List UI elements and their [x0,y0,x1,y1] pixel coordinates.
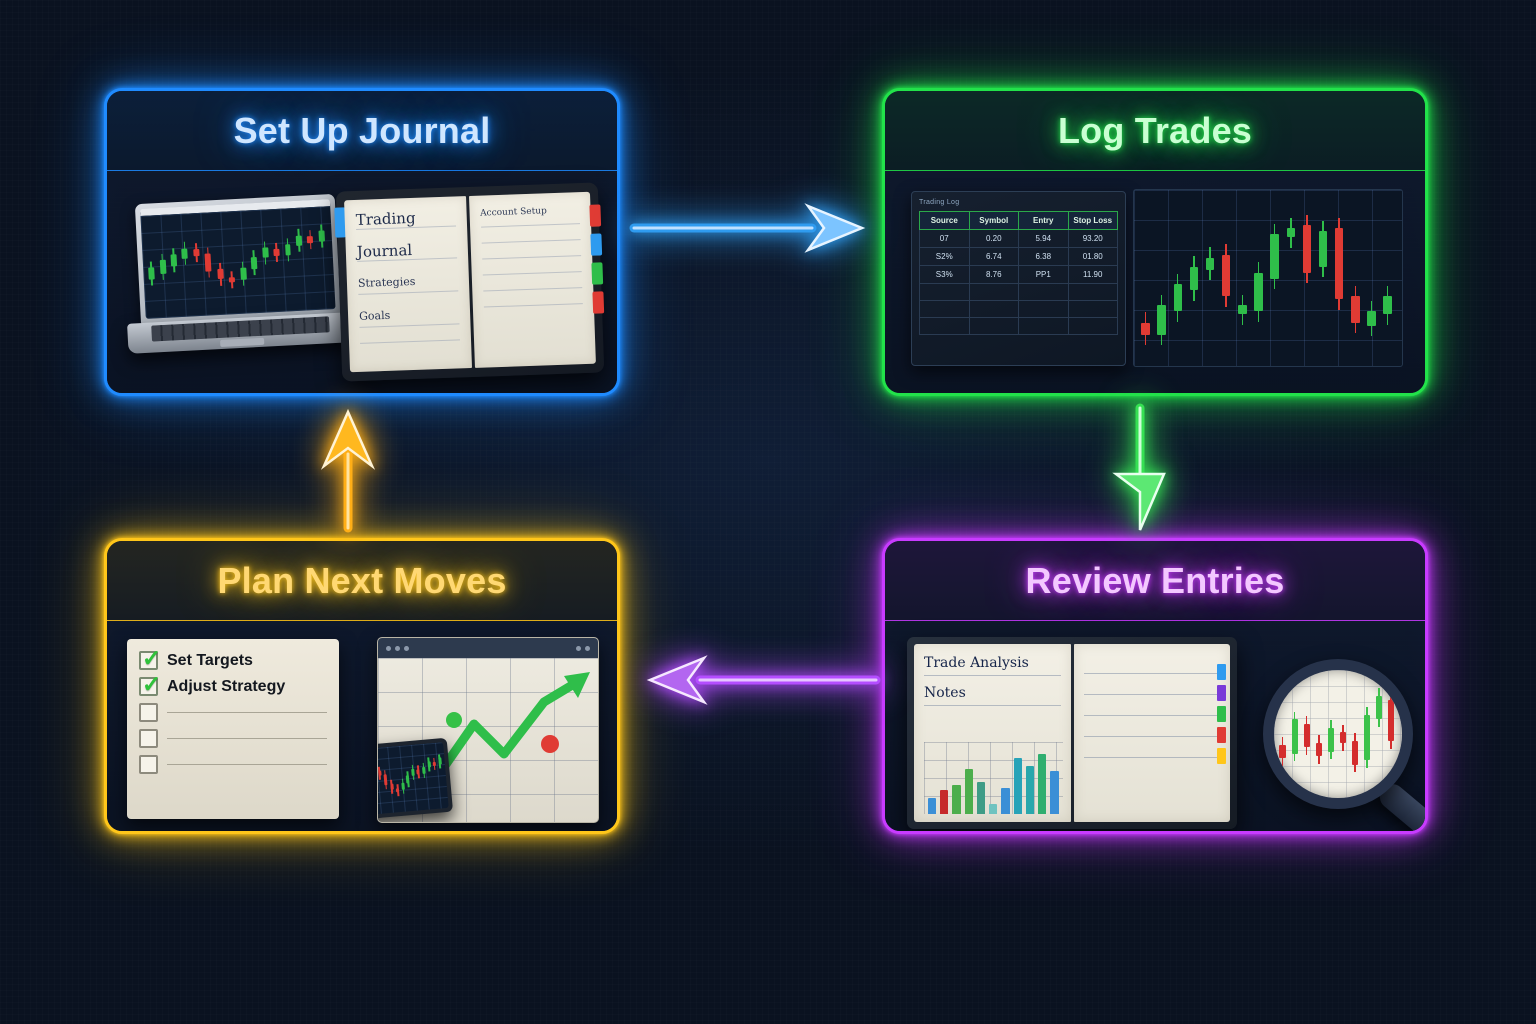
candlestick-bar [1303,225,1311,272]
analysis-bar-chart [924,742,1063,814]
bar [928,798,936,814]
candlestick-bar [390,783,394,790]
table-cell: 5.94 [1019,230,1069,248]
journal-notebook: Trading Journal Strategies Goals Account… [336,182,604,381]
candlestick-bar [1383,296,1391,314]
journal-line-strategies: Strategies [358,273,458,289]
candlestick-bar [427,761,431,768]
candlestick-bar [262,247,268,258]
candlestick-bar [1319,231,1327,266]
page-rule [360,339,459,343]
table-row[interactable] [920,301,1118,318]
node-log-trades[interactable]: Log Trades Trading Log SourceSymbolEntry… [882,88,1428,396]
notebook-tab-red-icon [589,204,601,226]
candlestick-bar [378,771,381,776]
table-cell [1019,318,1069,335]
candlestick-wick [1371,301,1373,337]
candlestick-bar [1292,719,1298,753]
table-cell [1019,284,1069,301]
journal-line-account-setup: Account Setup [480,205,580,218]
candlestick-bar [1335,228,1343,299]
candlestick-chart-laptop [140,206,335,319]
candlestick-wick [406,771,409,787]
table-cell [969,301,1019,318]
table-cell: S3% [920,266,970,284]
candlestick-bar [1157,305,1165,335]
candlestick-bar [1328,728,1334,752]
page-rule [1084,694,1221,695]
candlestick-wick [433,758,436,770]
page-rule [1084,736,1221,737]
candlestick-bar [1238,305,1246,314]
table-header-cell: Source [920,212,970,230]
candlestick-wick [417,766,420,778]
candlestick-wick [207,248,210,278]
candlestick-wick [1387,286,1389,325]
candlestick-bar [1206,258,1214,270]
candlestick-wick [412,765,415,780]
checklist-item-empty-2[interactable] [139,729,327,748]
node-set-up-journal[interactable]: Set Up Journal [104,88,620,396]
planning-checklist[interactable]: ✓ Set Targets ✓ Adjust Strategy [127,639,339,819]
checklist-blank-rule [167,738,327,739]
candlestick-bar [384,774,388,785]
notebook-left-page: Trading Journal Strategies Goals [344,196,471,372]
candlestick-wick [1242,295,1244,325]
table-row[interactable]: S3%8.76PP111.90 [920,266,1118,284]
candlestick-bar [1222,255,1230,296]
candlestick-wick [231,271,233,289]
node-review-entries[interactable]: Review Entries Trade Analysis Notes [882,538,1428,834]
node-header-plan-next-moves: Plan Next Moves [107,541,617,621]
window-dot-icon [386,646,391,651]
bar [1050,771,1058,814]
edge-plan-to-setup [320,408,376,534]
candlestick-wick [195,243,198,262]
table-cell [920,301,970,318]
check-mark-icon: ✓ [142,647,161,670]
candlestick-bar [1352,741,1358,765]
candlestick-wick [1177,274,1179,322]
table-header-cell: Stop Loss [1068,212,1118,230]
bar [1014,758,1022,814]
table-cell: 6.38 [1019,248,1069,266]
checklist-blank-rule [167,764,327,765]
table-cell [1068,301,1118,318]
table-row[interactable]: 070.205.9493.20 [920,230,1118,248]
candlestick-wick [298,229,301,252]
candlestick-bar [205,254,212,272]
candlestick-wick [427,757,430,772]
bookmark-red-icon [1217,727,1226,743]
window-dots-right [576,646,590,651]
candlestick-wick [219,263,222,286]
table-cell: 07 [920,230,970,248]
candlestick-wick [390,779,393,794]
edge-setup-to-log [630,200,868,256]
candlestick-bar [417,770,420,775]
candlestick-wick [161,254,164,280]
page-rule [924,675,1061,676]
table-row[interactable] [920,318,1118,335]
checkbox-unchecked[interactable] [139,755,158,774]
candlestick-bar [406,775,410,783]
window-titlebar [378,638,598,658]
candlestick-bar [159,260,166,274]
candlestick-bar [182,248,188,259]
candlestick-bar [1174,284,1182,311]
candlestick-bar [433,762,436,767]
bookmark-purple-icon [1217,685,1226,701]
node-illustration-review-entries: Trade Analysis Notes [885,621,1425,831]
bar [965,769,973,814]
table-cell: 11.90 [1068,266,1118,284]
candlestick-bar [1287,228,1295,237]
checkbox-checked[interactable]: ✓ [139,677,158,696]
review-heading-notes: Notes [924,685,1061,701]
table-cell: 93.20 [1068,230,1118,248]
table-cell [1019,301,1069,318]
tablet-illustration [377,738,453,820]
candlestick-wick [1161,295,1163,346]
table-cell [969,284,1019,301]
page-rule [481,239,580,243]
candlestick-wick [1330,720,1332,759]
checklist-blank-rule [167,712,327,713]
window-dot-icon [395,646,400,651]
checklist-label-adjust-strategy: Adjust Strategy [167,678,285,696]
bookmark-strip [1217,664,1226,764]
node-title-set-up-journal: Set Up Journal [234,110,491,152]
candlestick-bar [438,758,442,765]
flowchart-canvas: Set Up Journal [0,0,1536,1024]
candlestick-wick [438,754,441,769]
checklist-item-empty-3[interactable] [139,755,327,774]
node-plan-next-moves[interactable]: Plan Next Moves ✓ Set Targets ✓ Adju [104,538,620,834]
table-cell [1068,318,1118,335]
candlestick-wick [1355,286,1357,334]
trade-log-table-caption: Trading Log [919,199,1118,206]
table-cell: 0.20 [969,230,1019,248]
candlestick-bar [217,269,223,280]
candlestick-wick [253,251,256,276]
candlestick-bar [171,254,178,266]
table-header-cell: Entry [1019,212,1069,230]
page-rule [482,255,581,259]
bar [1026,766,1034,814]
node-title-plan-next-moves: Plan Next Moves [217,560,506,602]
candlestick-bar [1141,323,1149,335]
candlestick-wick [384,770,387,789]
page-rule [1084,715,1221,716]
candlestick-bar [422,767,426,774]
candlestick-wick [422,763,425,778]
table-cell [920,318,970,335]
candlestick-bar [1351,296,1359,323]
candlestick-wick [150,261,153,286]
marker-target-hit [446,712,462,728]
notebook-tab-red-2-icon [592,291,604,313]
candlestick-bar [1364,715,1370,760]
magnifier-lens [1263,659,1413,809]
review-heading-trade-analysis: Trade Analysis [924,655,1061,671]
table-cell [920,284,970,301]
bar [1038,754,1046,814]
candlestick-wick [1342,725,1344,751]
checkbox-unchecked[interactable] [139,703,158,722]
checklist-label-set-targets: Set Targets [167,652,253,670]
candlestick-wick [1390,692,1392,748]
journal-line-goals: Goals [359,306,459,322]
page-rule [1084,673,1221,674]
magnifying-glass-icon [1263,659,1413,809]
checklist-item-empty-1[interactable] [139,703,327,722]
candlestick-bar [229,277,235,282]
candlestick-bar [1388,700,1394,741]
notebook-right-page: Account Setup [468,192,595,368]
bar [977,782,985,814]
node-title-log-trades: Log Trades [1058,110,1252,152]
candlestick-wick [1294,712,1296,762]
candlestick-wick [1306,215,1308,283]
candlestick-bar [318,231,324,242]
candlestick-wick [1193,256,1195,301]
checkbox-unchecked[interactable] [139,729,158,748]
candlestick-wick [287,238,290,261]
marker-stop-out [541,735,559,753]
candlestick-wick [242,262,245,287]
candlestick-wick [309,230,312,249]
page-rule [483,303,582,307]
candlestick-bar [411,769,415,776]
trend-board-window [377,637,599,823]
candlestick-bar [193,249,199,256]
trade-log-table[interactable]: SourceSymbolEntryStop Loss070.205.9493.2… [919,211,1118,335]
bookmark-yellow-icon [1217,748,1226,764]
checklist-item-adjust-strategy[interactable]: ✓ Adjust Strategy [139,677,327,696]
table-cell: 6.74 [969,248,1019,266]
edge-log-to-review [1112,404,1168,534]
candlestick-wick [1366,707,1368,768]
candlestick-wick [402,778,405,794]
candlestick-wick [378,767,381,779]
page-rule [483,287,582,291]
candlestick-bar [396,788,399,792]
laptop-lid [135,194,341,324]
candlestick-wick [1282,737,1284,765]
candlestick-bar [307,236,313,243]
candlestick-chart-magnified [1274,670,1402,798]
window-dots-left [386,646,409,651]
node-illustration-log-trades: Trading Log SourceSymbolEntryStop Loss07… [885,171,1425,393]
edge-review-to-plan [648,652,880,708]
candlestick-bar [285,244,291,255]
page-rule [359,323,458,327]
candlestick-wick [1306,716,1308,755]
node-title-review-entries: Review Entries [1026,560,1285,602]
bar-series [924,742,1063,814]
candlestick-chart-log [1134,190,1402,366]
table-row[interactable]: S2%6.746.3801.80 [920,248,1118,266]
candlestick-wick [184,242,187,265]
notebook-tab-blue-2-icon [590,233,602,255]
node-illustration-plan-next-moves: ✓ Set Targets ✓ Adjust Strategy [107,621,617,831]
candlestick-bar [273,248,279,255]
table-cell: PP1 [1019,266,1069,284]
laptop-trackpad [220,338,264,347]
candlestick-bar [1340,732,1346,743]
review-right-page [1074,644,1231,822]
candlestick-bar [1376,696,1382,720]
page-rule [358,290,457,294]
candlestick-bar [401,782,405,790]
bar [989,804,997,814]
page-rule [1084,757,1221,758]
node-header-review-entries: Review Entries [885,541,1425,621]
window-dot-icon [585,646,590,651]
page-rule [481,223,580,227]
table-cell: S2% [920,248,970,266]
bar [1001,788,1009,814]
candlestick-bar [1190,267,1198,291]
candlestick-bar [1279,745,1285,758]
review-notebook: Trade Analysis Notes [907,637,1237,829]
candlestick-wick [275,242,278,261]
window-dot-icon [404,646,409,651]
notebook-tab-green-icon [591,262,603,284]
node-header-log-trades: Log Trades [885,91,1425,171]
check-mark-icon: ✓ [142,673,161,696]
candlestick-wick [396,784,399,796]
candlestick-wick [1209,247,1211,280]
tablet-screen [377,742,449,816]
trade-log-table-panel[interactable]: Trading Log SourceSymbolEntryStop Loss07… [911,191,1126,366]
page-rule [924,705,1061,706]
candlestick-bar [251,257,258,269]
review-left-page: Trade Analysis Notes [914,644,1071,822]
candlestick-wick [1354,733,1356,772]
candlestick-chart-panel [1133,189,1403,367]
table-cell [969,318,1019,335]
candlestick-bar [1254,273,1262,311]
candlestick-bar [1304,724,1310,748]
window-dot-icon [576,646,581,651]
candlestick-bar [1270,234,1278,278]
candlestick-bar [296,235,302,246]
table-header-cell: Symbol [969,212,1019,230]
node-header-set-up-journal: Set Up Journal [107,91,617,171]
candlestick-wick [1378,688,1380,727]
candlestick-bar [240,268,247,280]
candlestick-wick [1318,735,1320,763]
table-cell: 01.80 [1068,248,1118,266]
candlestick-wick [320,225,323,248]
candlestick-wick [1274,224,1276,289]
page-rule [482,271,581,275]
laptop-screen [140,199,335,319]
bookmark-blue-icon [1217,664,1226,680]
candlestick-wick [1322,221,1324,278]
candlestick-wick [1258,262,1260,322]
table-cell: 8.76 [969,266,1019,284]
candlestick-chart-tablet [377,742,449,816]
candlestick-wick [1338,218,1340,310]
candlestick-wick [264,241,267,264]
bar [952,785,960,814]
node-illustration-set-up-journal: Trading Journal Strategies Goals Account… [107,171,617,393]
checklist-item-set-targets[interactable]: ✓ Set Targets [139,651,327,670]
bookmark-green-icon [1217,706,1226,722]
candlestick-wick [1225,244,1227,307]
table-cell [1068,284,1118,301]
candlestick-bar [1316,743,1322,756]
candlestick-bar [148,267,155,279]
checkbox-checked[interactable]: ✓ [139,651,158,670]
candlestick-wick [1290,218,1292,248]
candlestick-wick [172,248,175,273]
candlestick-bar [1367,311,1375,326]
table-row[interactable] [920,284,1118,301]
bar [940,790,948,814]
candlestick-wick [1145,312,1147,345]
laptop-illustration [121,193,355,370]
